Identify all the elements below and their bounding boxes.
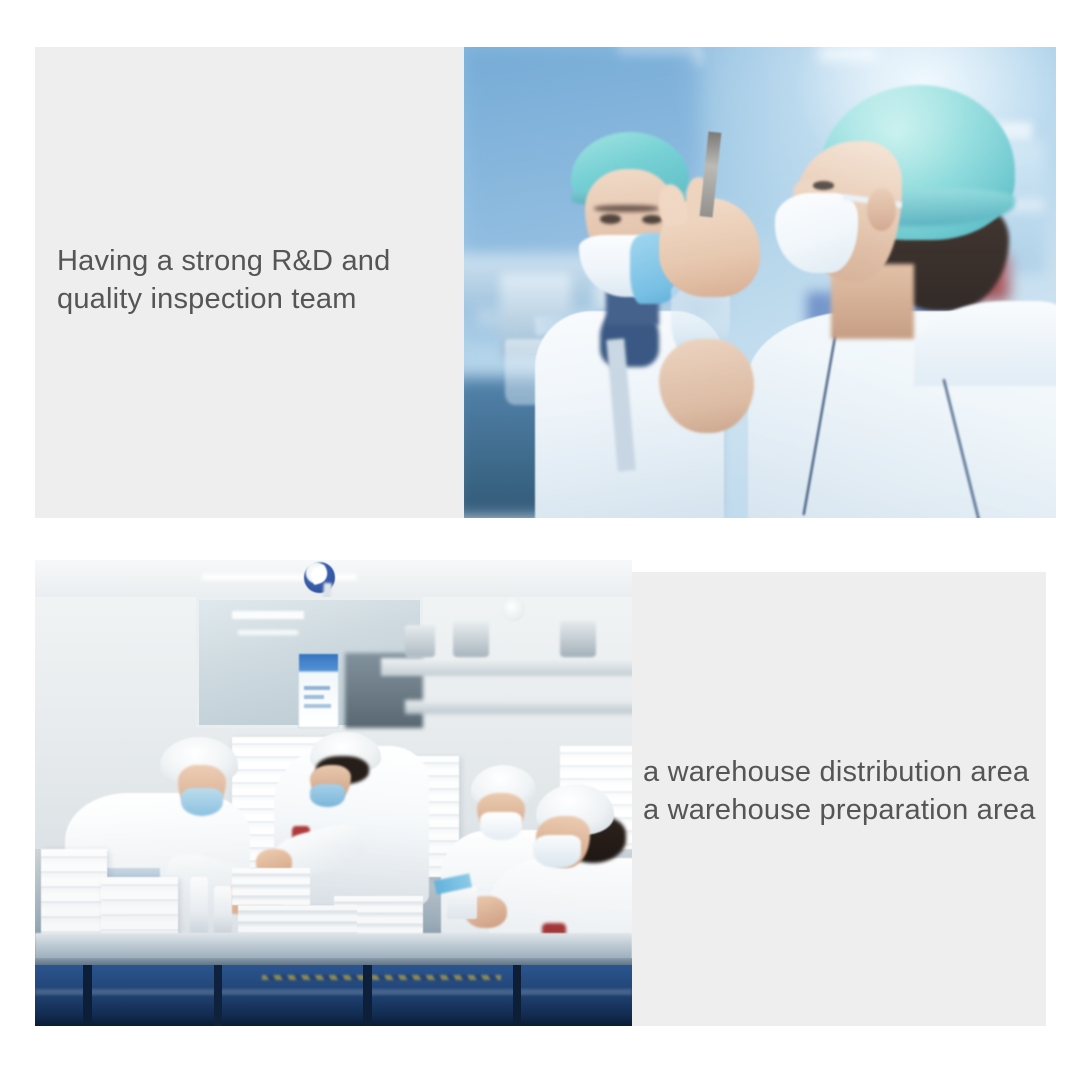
wall-clock-icon	[501, 597, 525, 620]
back-counter-lower	[405, 700, 632, 714]
lab-quality-inspection-photo	[464, 47, 1056, 518]
table-leg-2	[214, 965, 222, 1026]
window-light-fixture-1	[232, 611, 304, 618]
rnd-caption-text: Having a strong R&D and quality inspecti…	[57, 242, 457, 318]
technician-left-brow	[594, 205, 659, 213]
sign-text-line-2	[304, 695, 324, 699]
table-leg-4	[513, 965, 521, 1026]
sign-text-line-1	[304, 686, 330, 690]
technician-right-ear	[867, 188, 897, 230]
product-bottle-1	[190, 877, 208, 933]
wall-notice-sign	[298, 653, 340, 728]
ceiling-light-right	[819, 47, 878, 61]
worker-center-mask	[310, 784, 346, 807]
table-leg-1	[83, 965, 93, 1026]
carton-row-upper	[232, 868, 310, 905]
steel-pot-3	[560, 621, 596, 658]
back-counter-upper	[381, 658, 632, 677]
technician-right-mask	[775, 193, 858, 273]
steel-pot-1	[405, 625, 435, 658]
worker-right-mask	[480, 812, 522, 840]
warehouse-caption-text: a warehouse distribution area a warehous…	[643, 753, 1043, 829]
table-cross-rail	[35, 989, 632, 996]
technician-left-eye-2	[642, 215, 662, 224]
table-leg-3	[363, 965, 371, 1026]
floor-hazard-stripe	[262, 975, 501, 981]
product-bottle-2	[214, 886, 232, 933]
warehouse-packing-photo	[35, 560, 632, 1026]
window-light-fixture-2	[238, 630, 298, 636]
technician-right-eye	[813, 181, 834, 189]
technician-right-lower-hand	[659, 339, 754, 433]
technician-left-eye-1	[600, 214, 621, 223]
steel-table-top	[35, 933, 632, 961]
steel-pot-2	[453, 621, 489, 658]
worker-foreground-mask	[533, 835, 581, 868]
carton-stack-front-left	[41, 849, 107, 942]
sign-text-line-3	[304, 704, 331, 708]
